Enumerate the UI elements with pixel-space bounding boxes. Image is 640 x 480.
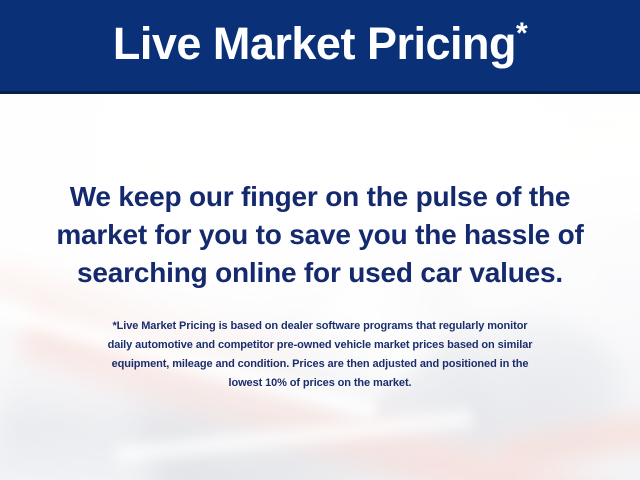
page-title-text: Live Market Pricing bbox=[113, 18, 516, 69]
live-market-pricing-banner: Live Market Pricing* We keep our finger … bbox=[0, 0, 640, 480]
lede-paragraph: We keep our finger on the pulse of the m… bbox=[0, 178, 640, 292]
footnote-marker: * bbox=[516, 17, 527, 50]
lede-line: We keep our finger on the pulse of the bbox=[0, 178, 640, 216]
banner-content: We keep our finger on the pulse of the m… bbox=[0, 94, 640, 480]
fineprint-line: daily automotive and competitor pre-owne… bbox=[26, 336, 614, 355]
lede-line: market for you to save you the hassle of bbox=[0, 216, 640, 254]
header-band: Live Market Pricing* bbox=[0, 0, 640, 94]
fineprint-line: *Live Market Pricing is based on dealer … bbox=[26, 317, 614, 336]
fineprint-disclaimer: *Live Market Pricing is based on dealer … bbox=[26, 317, 614, 393]
fineprint-line: equipment, mileage and condition. Prices… bbox=[26, 355, 614, 374]
lede-line: searching online for used car values. bbox=[0, 254, 640, 292]
page-title: Live Market Pricing* bbox=[113, 21, 527, 70]
fineprint-line: lowest 10% of prices on the market. bbox=[26, 374, 614, 393]
